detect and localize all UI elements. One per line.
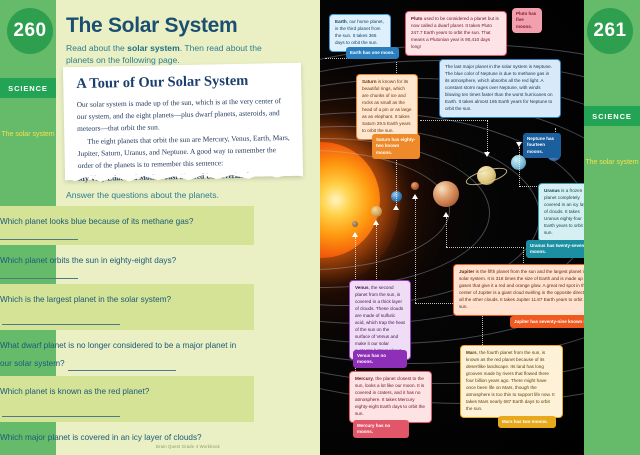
answer-line-5[interactable] [2,409,120,417]
callout-mercury-body: , the planet closest to the sun, looks a… [355,376,425,416]
callout-mercury-lead: Mercury [355,376,373,381]
subject-tab-left: SCIENCE [0,78,56,98]
question-row-6: Which major planet is covered in an icy … [0,422,254,455]
moon-tag-pluto: Pluto has five moons. [512,8,542,33]
leader-line-jupiter-horizontal [446,247,524,248]
rail-caption-right: The solar system [584,158,640,167]
callout-mars-lead: Mars [466,350,477,355]
moon-tag-mars: Mars has two moons. [498,416,556,428]
article-paragraph-2: The eight planets that orbit the sun are… [77,132,291,172]
article-body: Our solar system is made up of the sun, … [77,95,292,185]
callout-neptune: The last major planet in the solar syste… [439,59,561,118]
callout-mars: Mars, the fourth planet from the sun, is… [460,345,563,418]
callout-saturn-lead: Saturn [362,79,377,84]
right-page-rail [584,0,640,455]
article-card: A Tour of Our Solar System Our solar sys… [63,63,303,181]
planet-jupiter-icon [433,181,459,207]
answer-line-6[interactable] [0,448,78,455]
answer-line-3[interactable] [2,317,120,325]
callout-jupiter-body: is the fifth planet from the sun and the… [459,269,584,309]
planet-mars-icon [411,182,419,190]
planet-venus-icon [371,206,382,217]
callout-pluto: Pluto used to be considered a planet but… [405,11,507,56]
answer-line-1[interactable] [0,232,78,240]
question-row-1: Which planet looks blue because of its m… [0,206,254,245]
leader-line-venus [376,225,377,281]
moon-tag-uranus: Uranus has twenty-seven moons. [526,240,584,258]
question-text-3: Which is the largest planet in the solar… [0,295,171,304]
subject-tab-right: SCIENCE [584,106,640,126]
answer-line-2[interactable] [0,271,78,279]
answer-prompt: Answer the questions about the planets. [66,190,219,200]
question-row-2: Which planet orbits the sun in eighty-ei… [0,245,254,284]
article-title: A Tour of Our Solar System [76,72,289,93]
leader-line-saturn-drop [487,120,488,152]
question-row-4: What dwarf planet is no longer considere… [0,330,254,376]
callout-pluto-body: used to be considered a planet but is no… [411,16,499,49]
callout-jupiter: Jupiter is the fifth planet from the sun… [453,264,584,316]
planet-mercury-icon [352,221,358,227]
pointer-arrow-saturn [484,152,490,157]
rail-caption-left: The solar system [0,130,56,139]
left-page-footer: Brain Quest Grade 4 Workbook [0,444,320,449]
leader-line-uranus-stem [519,147,520,187]
article-paragraph-1: Our solar system is made up of the sun, … [77,95,291,135]
moon-tag-neptune: Neptune has fourteen moons. [523,133,561,158]
question-text-5: Which planet is known as the red planet? [0,387,149,396]
questions-list: Which planet looks blue because of its m… [0,206,254,455]
moon-tag-earth: Earth has one moon. [346,47,399,59]
page-title: The Solar System [66,14,237,38]
callout-pluto-lead: Pluto [411,16,422,21]
callout-mars-body: , the fourth planet from the sun, is kno… [466,350,555,411]
callout-mercury: Mercury, the planet closest to the sun, … [349,371,432,423]
question-row-3: Which is the largest planet in the solar… [0,284,254,330]
callout-venus-body: , the second planet from the sun, is cov… [355,285,405,353]
moon-tag-mercury: Mercury has no moons. [353,420,409,438]
workbook-spread: 260 SCIENCE The solar system The Solar S… [0,0,640,455]
page-number-badge-left: 260 [7,8,53,54]
question-text-1: Which planet looks blue because of its m… [0,217,193,226]
callout-venus: Venus, the second planet from the sun, i… [349,280,411,360]
question-text-6: Which major planet is covered in an icy … [0,433,202,442]
callout-jupiter-lead: Jupiter [459,269,474,274]
callout-saturn: Saturn is known for its beautiful rings,… [356,74,418,140]
right-page: 261 SCIENCE The solar system [320,0,640,455]
moon-tag-saturn: Saturn has eighty-two known moons. [372,134,420,159]
callout-saturn-body: is known for its beautiful rings, which … [362,79,412,133]
solar-system-illustration: Earth, our home planet, is the third pla… [320,0,584,455]
moon-tag-venus: Venus has no moons. [353,350,407,368]
callout-venus-lead: Venus [355,285,369,290]
callout-earth-lead: Earth [335,19,347,24]
leader-line-jupiter [446,217,447,247]
page-number-badge-right: 261 [587,8,633,54]
callout-uranus-lead: Uranus [544,188,560,193]
moon-tag-jupiter: Jupiter has seventy-nine known moons. [510,316,584,328]
answer-line-4[interactable] [68,363,176,371]
callout-uranus: Uranus is a frozen planet completely cov… [538,183,584,242]
leader-line-saturn [420,120,488,121]
callout-neptune-body: The last major planet in the solar syste… [445,64,553,111]
question-text-2: Which planet orbits the sun in eighty-ei… [0,256,176,265]
question-row-5: Which planet is known as the red planet? [0,376,254,422]
leader-line-mars [415,199,416,303]
instructions-pre: Read about the [66,43,127,53]
left-page: 260 SCIENCE The solar system The Solar S… [0,0,320,455]
instructions-bold: solar system [127,43,180,53]
callout-uranus-body: is a frozen planet completely covered in… [544,188,584,235]
